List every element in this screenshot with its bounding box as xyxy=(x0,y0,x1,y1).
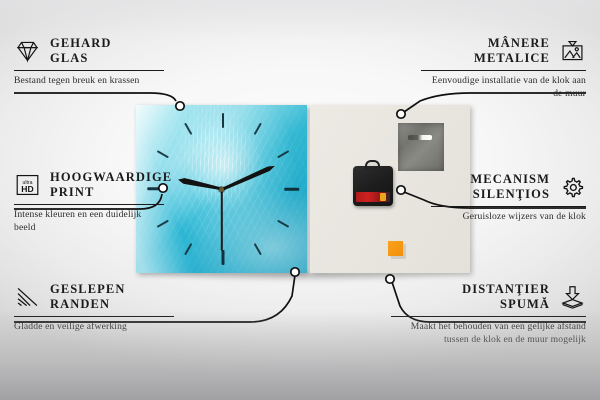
leader-line-1 xyxy=(14,93,176,101)
callout-description: Geruisloze wijzers van de klok xyxy=(431,211,586,224)
callout-head: GESLEPENRANDEN xyxy=(14,282,174,313)
product-image xyxy=(136,105,470,273)
callout-description: Eenvoudige installatie van de klok aan d… xyxy=(421,75,586,101)
callout-metal-handles: MÂNEREMETALICE Eenvoudige installatie va… xyxy=(421,36,586,100)
clock-center-cap xyxy=(219,187,224,192)
battery xyxy=(356,192,390,202)
clock-second-hand xyxy=(221,189,223,251)
diamond-icon xyxy=(14,39,41,63)
callout-rule xyxy=(391,316,586,317)
movement-hook xyxy=(365,160,380,169)
picture-frame-icon xyxy=(559,39,586,63)
callout-description: Maakt het behouden van een gelijke afsta… xyxy=(391,321,586,347)
callout-head: MECANISMSILENŢIOS xyxy=(431,172,586,203)
callout-rule xyxy=(14,204,164,205)
callout-description: Intense kleuren en een duidelijk beeld xyxy=(14,209,164,235)
callout-high-quality-print: ultra HD HOOGWAARDIGEPRINT Intense kleur… xyxy=(14,170,164,234)
callout-title: DISTANŢIERSPUMĂ xyxy=(462,282,550,313)
callout-description: Bestand tegen breuk en krassen xyxy=(14,75,164,88)
callout-silent-mechanism: MECANISMSILENŢIOS Geruisloze wijzers van… xyxy=(431,172,586,224)
callout-foam-spacer: DISTANŢIERSPUMĂ Maakt het behouden van e… xyxy=(391,282,586,346)
spacer-press-icon xyxy=(559,285,586,309)
beveled-edge-icon xyxy=(14,285,41,309)
callout-title: HOOGWAARDIGEPRINT xyxy=(50,170,172,201)
callout-title: GESLEPENRANDEN xyxy=(50,282,126,313)
callout-title: GEHARDGLAS xyxy=(50,36,111,67)
callout-tempered-glass: GEHARDGLAS Bestand tegen breuk en krasse… xyxy=(14,36,164,88)
callout-rule xyxy=(14,70,164,71)
ultra-hd-icon: ultra HD xyxy=(14,173,41,197)
foam-spacer xyxy=(388,241,403,256)
gear-icon xyxy=(559,175,586,199)
callout-title: MECANISMSILENŢIOS xyxy=(470,172,550,203)
clock-tick xyxy=(284,188,299,191)
hanger-slot xyxy=(408,135,432,140)
callout-head: GEHARDGLAS xyxy=(14,36,164,67)
callout-description: Gladde en veilige afwerking xyxy=(14,321,174,334)
metal-hanger-plate xyxy=(398,123,444,171)
callout-rule xyxy=(421,70,586,71)
top-vignette xyxy=(0,0,600,40)
callout-head: MÂNEREMETALICE xyxy=(421,36,586,67)
callout-beveled-edges: GESLEPENRANDEN Gladde en veilige afwerki… xyxy=(14,282,174,334)
clock-tick xyxy=(222,113,225,128)
clock-tick xyxy=(222,250,225,265)
quartz-movement-box xyxy=(353,166,393,206)
callout-head: ultra HD HOOGWAARDIGEPRINT xyxy=(14,170,164,201)
svg-text:HD: HD xyxy=(21,184,33,194)
callout-head: DISTANŢIERSPUMĂ xyxy=(391,282,586,313)
callout-rule xyxy=(14,316,174,317)
battery-plus-terminal xyxy=(380,193,386,201)
infographic-canvas: GEHARDGLAS Bestand tegen breuk en krasse… xyxy=(0,0,600,400)
callout-rule xyxy=(431,206,586,207)
callout-title: MÂNEREMETALICE xyxy=(474,36,550,67)
